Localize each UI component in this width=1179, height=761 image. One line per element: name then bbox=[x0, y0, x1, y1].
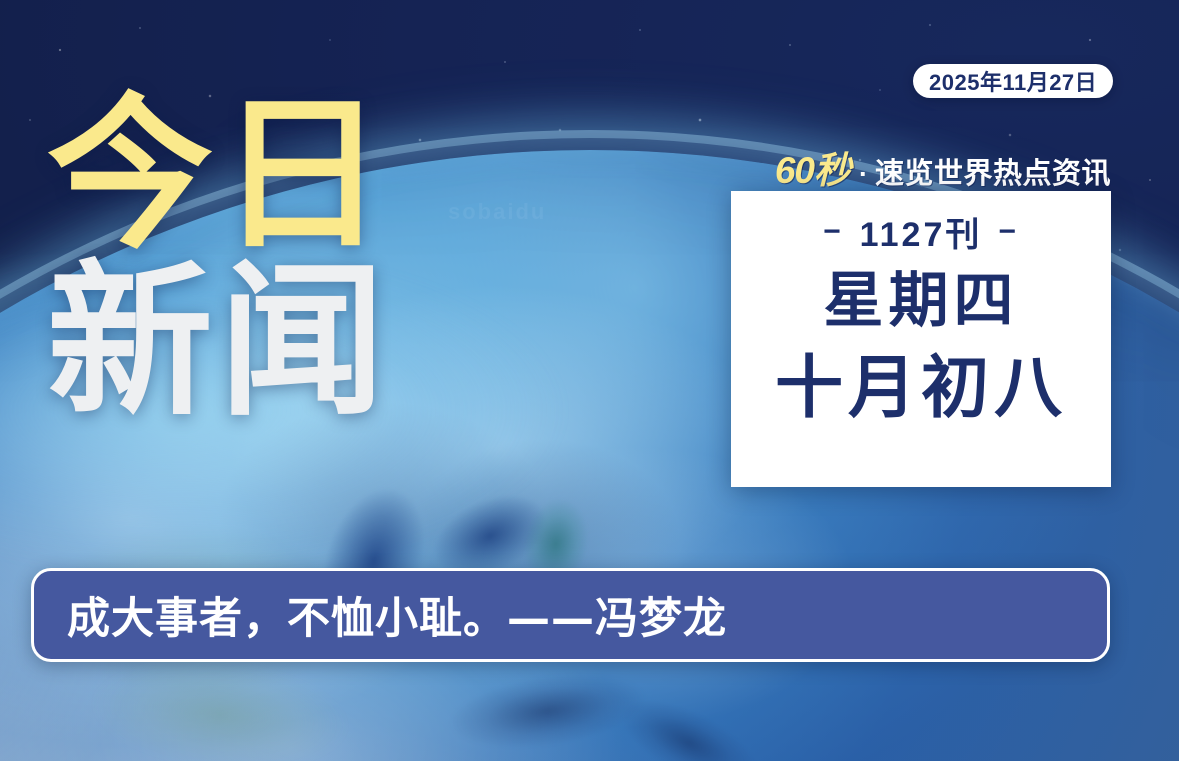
tagline-seconds: 60秒 bbox=[775, 140, 850, 194]
date-badge: 2025年11月27日 bbox=[913, 64, 1113, 98]
weekday-label: 星期四 bbox=[824, 268, 1019, 335]
quote-bar: 成大事者，不恤小耻。——冯梦龙 bbox=[31, 568, 1110, 662]
issue-dash-right-icon: − bbox=[998, 217, 1019, 247]
title-line-today: 今日 bbox=[47, 96, 467, 255]
issue-dash-left-icon: − bbox=[823, 217, 844, 247]
info-card: − 1127刊 − 星期四 十月初八 bbox=[731, 191, 1111, 487]
title-line-news: 新闻 bbox=[47, 263, 467, 422]
news-poster: sobaidu 今日 新闻 2025年11月27日 60秒 · 速览世界热点资讯… bbox=[0, 0, 1179, 761]
poster-title: 今日 新闻 bbox=[47, 96, 467, 423]
quote-text: 成大事者，不恤小耻。——冯梦龙 bbox=[34, 584, 727, 646]
issue-number: 1127刊 bbox=[860, 207, 983, 256]
tagline: 60秒 · 速览世界热点资讯 bbox=[731, 140, 1111, 194]
issue-row: − 1127刊 − bbox=[823, 207, 1019, 256]
lunar-date-label: 十月初八 bbox=[775, 351, 1067, 427]
tagline-separator-icon: · bbox=[853, 159, 872, 190]
tagline-text: 速览世界热点资讯 bbox=[875, 150, 1111, 192]
